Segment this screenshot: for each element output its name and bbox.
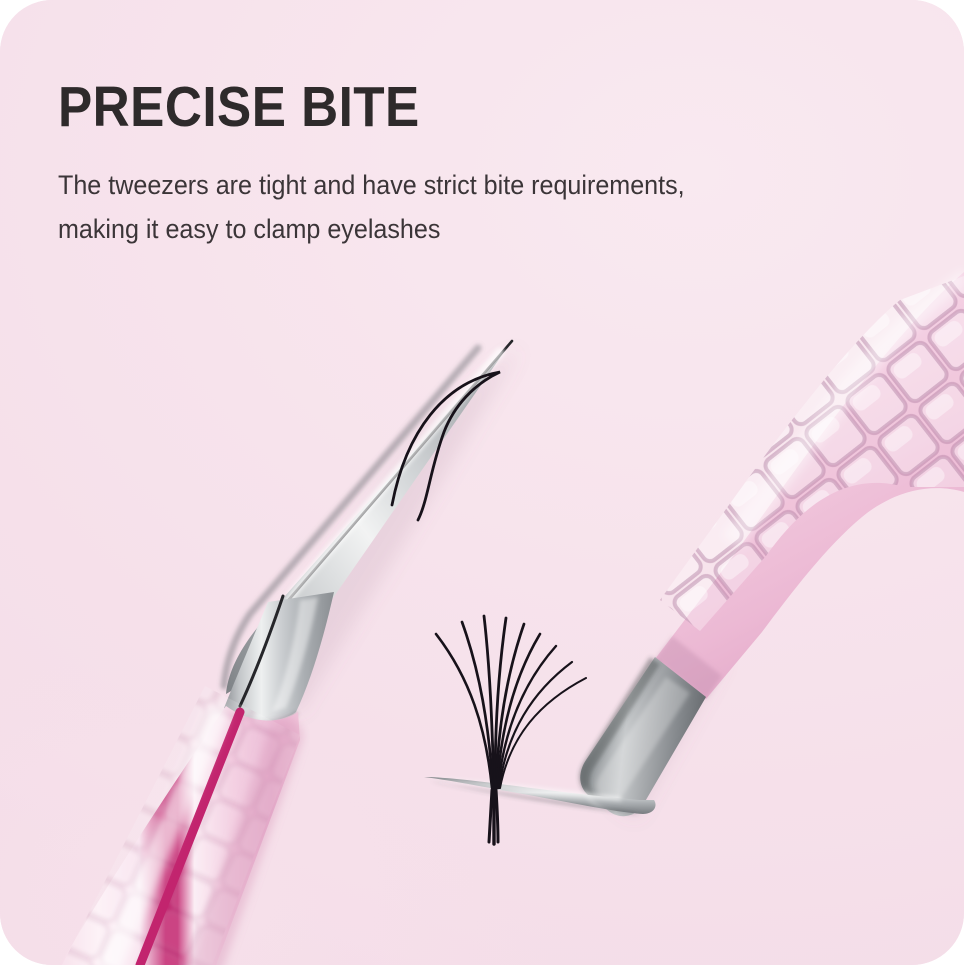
feature-description-line-2: making it easy to clamp eyelashes [58,208,793,252]
feature-text-block: PRECISE BITE The tweezers are tight and … [58,78,858,251]
page-title: PRECISE BITE [58,78,778,138]
product-feature-card: PRECISE BITE The tweezers are tight and … [0,0,964,965]
feature-description: The tweezers are tight and have strict b… [58,138,793,251]
screenshot-root: PRECISE BITE The tweezers are tight and … [0,0,964,965]
feature-description-line-1: The tweezers are tight and have strict b… [58,164,793,208]
